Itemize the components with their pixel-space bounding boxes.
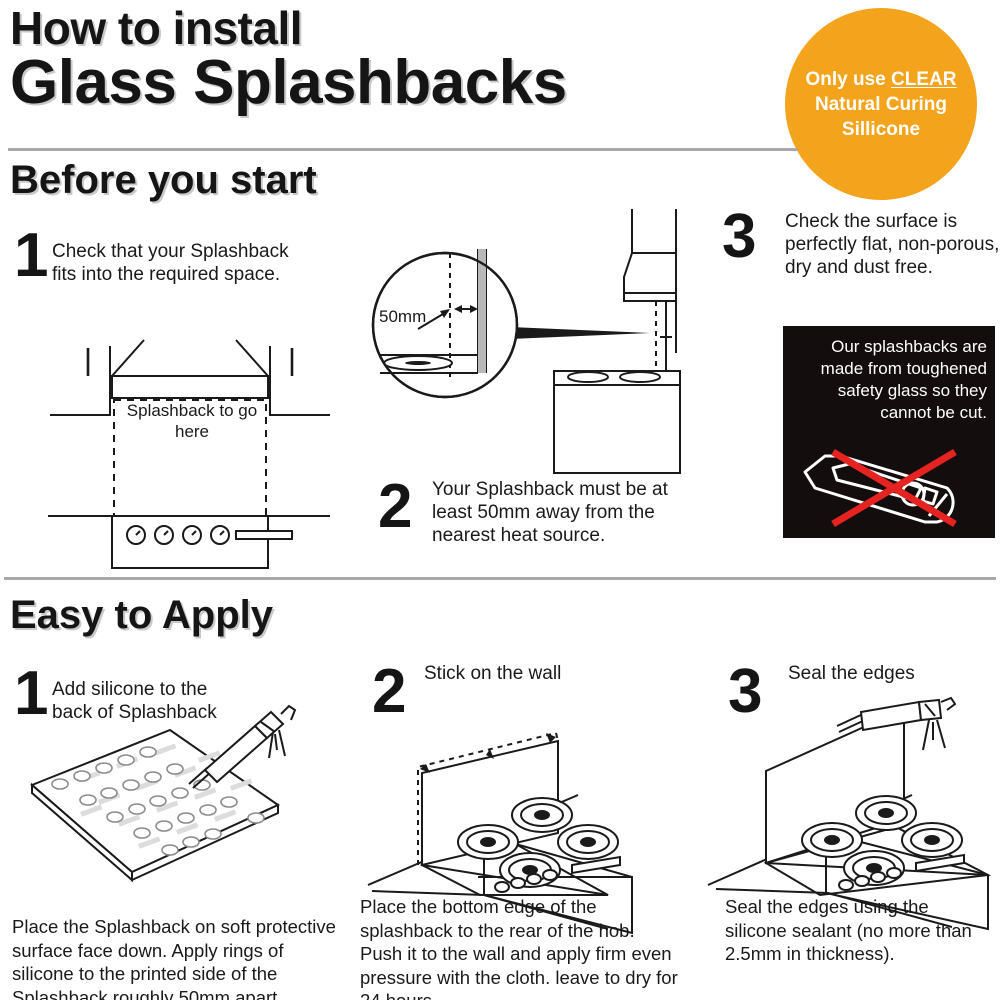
easy-step-1-caption: Place the Splashback on soft protective … [12,915,337,1000]
badge-line1-emphasis: CLEAR [891,69,956,90]
before-step-2-text: Your Splashback must be at least 50mm aw… [432,478,682,547]
section-heading-before: Before you start [10,158,317,203]
before-step-1-diagram-label: Splashback to go here [112,400,272,442]
clear-silicone-badge: Only use CLEAR Natural Curing Sillicone [785,8,977,200]
caulk-gun-icon [185,700,305,790]
badge-line2: Natural Curing [815,94,947,115]
divider-top [8,148,798,151]
badge-text: Only use CLEAR Natural Curing Sillicone [800,67,963,142]
before-step-1-number: 1 [14,227,48,285]
easy-step-2-diagram [360,685,680,885]
utility-knife-crossed-out-icon [797,444,981,530]
badge-line3: Sillicone [842,119,920,140]
before-step-3-text: Check the surface is perfectly flat, non… [785,210,1000,279]
page-title-line1: How to install [10,4,302,52]
divider-middle [4,577,996,580]
before-step-3-number: 3 [722,208,756,266]
badge-line1-pre: Only use [806,69,892,90]
easy-step-2-text: Stick on the wall [424,662,654,685]
warning-box: Our splashbacks are made from toughened … [783,326,995,538]
easy-step-3-caption: Seal the edges using the silicone sealan… [725,895,990,966]
caulk-gun-icon-sealing [835,688,965,778]
easy-step-3-text: Seal the edges [788,662,988,685]
section-heading-easy: Easy to Apply [10,593,273,638]
before-step-2-diagram-label: 50mm [379,305,426,329]
before-step-1-text: Check that your Splashback fits into the… [52,240,317,286]
before-step-2-diagram [360,205,700,495]
page-title-line2: Glass Splashbacks [10,50,567,116]
easy-step-2-caption: Place the bottom edge of the splashback … [360,895,680,1000]
before-step-2-number: 2 [378,478,412,536]
warning-box-text: Our splashbacks are made from toughened … [791,336,987,424]
poster-root: How to install Glass Splashbacks Only us… [0,0,1000,1000]
